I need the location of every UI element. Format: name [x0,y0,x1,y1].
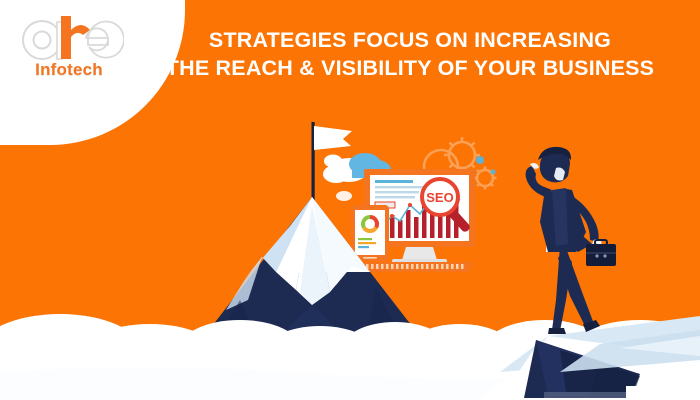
page-title: STRATEGIES FOCUS ON INCREASING THE REACH… [132,26,688,82]
seo-label: SEO [426,190,453,205]
logo-wordmark: Infotech [14,60,124,80]
businessman-figure [526,147,616,334]
decor-accents [0,326,44,344]
mountain [192,197,432,352]
summit-flag [312,122,353,202]
gear-icons [424,137,497,190]
seo-magnifier: SEO [422,179,471,233]
logo-letter-a [23,21,62,59]
cliff-ledge [480,316,700,400]
clouds [323,153,391,201]
keyboard [356,262,474,272]
tablet-device [351,205,389,261]
briefcase [586,240,616,266]
promo-banner: SEO [0,0,700,400]
desktop-monitor [364,169,475,264]
headline-line-1: STRATEGIES FOCUS ON INCREASING [132,26,688,54]
logo-letter-e [86,22,124,58]
are-infotech-logo[interactable]: Infotech [14,12,124,90]
headline-line-2: THE REACH & VISIBILITY OF YOUR BUSINESS [132,54,688,82]
bottom-cloud-bank [0,314,700,400]
logo-mark [14,12,124,62]
